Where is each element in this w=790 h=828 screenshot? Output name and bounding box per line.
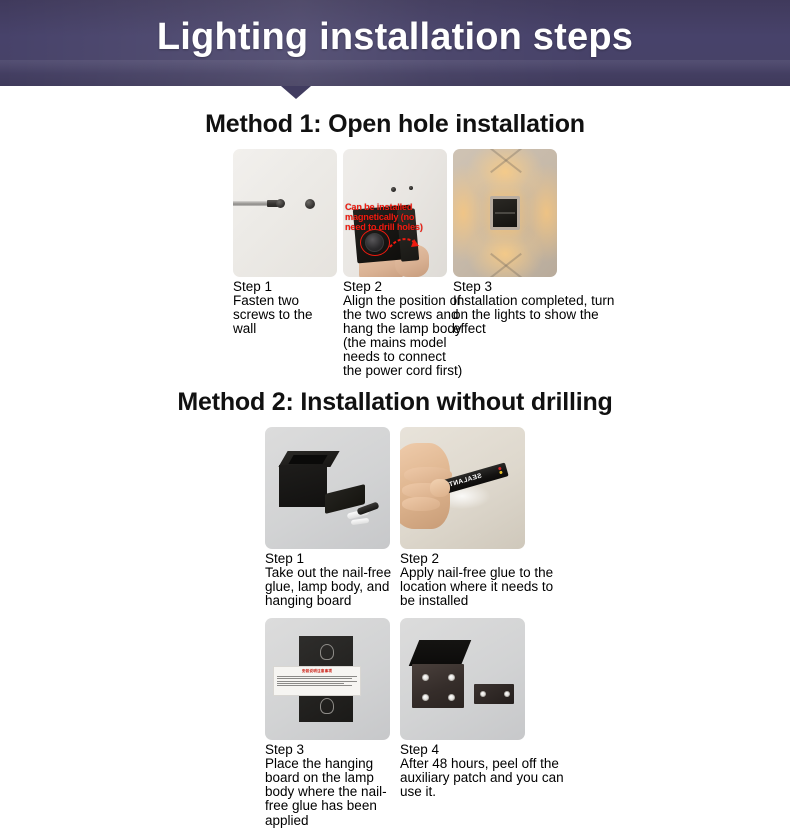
sticker-title-text: 安装说明注意事项 bbox=[274, 669, 360, 674]
step-label: Step 1 bbox=[265, 552, 390, 566]
method-2-steps-row-1: Step 1 Take out the nail-free glue, lamp… bbox=[0, 427, 790, 608]
light-ray-top-right bbox=[490, 149, 557, 173]
glue-tube-white-2 bbox=[351, 518, 370, 525]
tube-dot-yellow bbox=[499, 471, 503, 475]
hanging-lamp-body-on-screws-image: Can be installed magnetically (no need t… bbox=[343, 149, 447, 277]
step-text: Fasten two screws to the wall bbox=[233, 294, 337, 336]
screw-right bbox=[305, 199, 315, 209]
method-1-steps: Step 1 Fasten two screws to the wall Can… bbox=[0, 149, 790, 378]
instruction-sticker: 安装说明注意事项 bbox=[273, 666, 361, 696]
finger-ring bbox=[402, 497, 440, 511]
method-2-step-4: Step 4 After 48 hours, peel off the auxi… bbox=[400, 618, 525, 827]
lamp-cube-body bbox=[279, 465, 327, 507]
method-2-steps-row-2: 安装说明注意事项 Step 3 Place the hanging board … bbox=[0, 618, 790, 827]
keyhole-top bbox=[320, 644, 334, 660]
screw-upper-left bbox=[391, 187, 396, 192]
step-text: Take out the nail-free glue, lamp body, … bbox=[265, 566, 393, 608]
method-1-step-3: Step 3 Installation completed, turn on t… bbox=[453, 149, 557, 378]
lamp-parts-unboxed-image bbox=[265, 427, 390, 549]
screwdriver-shaft bbox=[233, 201, 271, 206]
method-2-step-3: 安装说明注意事项 Step 3 Place the hanging board … bbox=[265, 618, 390, 827]
step-text: Place the hanging board on the lamp body… bbox=[265, 757, 393, 827]
hand-applying-glue-to-wall-image: SEALANT bbox=[400, 427, 525, 549]
method-2-step-4-caption: Step 4 After 48 hours, peel off the auxi… bbox=[400, 743, 525, 799]
step-label: Step 1 bbox=[233, 280, 337, 294]
step-text: Installation completed, turn on the ligh… bbox=[453, 294, 618, 336]
banner-notch-triangle-icon bbox=[281, 86, 311, 99]
hanging-board-with-instruction-sticker-image: 安装说明注意事项 bbox=[265, 618, 390, 740]
sticker-text-line bbox=[277, 678, 352, 679]
method-1-step-1: Step 1 Fasten two screws to the wall bbox=[233, 149, 337, 378]
lamp-body-with-adhesive-pads-image bbox=[400, 618, 525, 740]
step-label: Step 3 bbox=[453, 280, 557, 294]
magnet-highlight-ellipse-icon bbox=[360, 229, 390, 256]
step-text: After 48 hours, peel off the auxiliary p… bbox=[400, 757, 565, 799]
sticker-text-line bbox=[277, 685, 352, 686]
annotation-line-2: magnetically (no bbox=[345, 212, 414, 222]
step-label: Step 4 bbox=[400, 743, 525, 757]
method-2-step-2: SEALANT Step 2 Apply nail-free glue to t… bbox=[400, 427, 525, 608]
cube-inner-cavity bbox=[288, 455, 327, 464]
method-2-heading: Method 2: Installation without drilling bbox=[0, 388, 790, 417]
annotation-line-1: Can be installed bbox=[345, 202, 412, 212]
page-header-banner: Lighting installation steps bbox=[0, 0, 790, 86]
step-label: Step 2 bbox=[400, 552, 525, 566]
method-2-step-3-caption: Step 3 Place the hanging board on the la… bbox=[265, 743, 390, 827]
step-text: Apply nail-free glue to the location whe… bbox=[400, 566, 565, 608]
step-label: Step 2 bbox=[343, 280, 447, 294]
screw-left bbox=[276, 199, 285, 208]
step-label: Step 3 bbox=[265, 743, 390, 757]
keyhole-bottom bbox=[320, 698, 334, 714]
sticker-text-line bbox=[277, 683, 344, 684]
light-ray-bottom-right bbox=[490, 253, 557, 277]
method-2-step-1-caption: Step 1 Take out the nail-free glue, lamp… bbox=[265, 552, 390, 608]
page-title: Lighting installation steps bbox=[0, 16, 790, 59]
method-2-step-1: Step 1 Take out the nail-free glue, lamp… bbox=[265, 427, 390, 608]
wall-with-two-screws-image bbox=[233, 149, 337, 277]
annotation-line-3: need to drill holes) bbox=[345, 222, 423, 232]
sticker-text-line bbox=[277, 676, 357, 677]
step-text: Align the position of the two screws and… bbox=[343, 294, 463, 378]
lamp-body-back bbox=[412, 664, 464, 708]
light-ray-top-left bbox=[453, 149, 522, 173]
magnetic-annotation-text: Can be installed magnetically (no need t… bbox=[345, 203, 447, 233]
method-1-heading: Method 1: Open hole installation bbox=[0, 110, 790, 139]
banner-sheen bbox=[0, 60, 790, 74]
method-1-step-2-caption: Step 2 Align the position of the two scr… bbox=[343, 280, 447, 378]
method-1-step-1-caption: Step 1 Fasten two screws to the wall bbox=[233, 280, 337, 336]
lamp-fixture bbox=[490, 196, 520, 230]
light-ray-bottom-left bbox=[453, 253, 522, 277]
thumb bbox=[430, 479, 450, 497]
screw-upper-right bbox=[409, 186, 413, 190]
red-arrow-icon bbox=[388, 235, 422, 257]
method-1-step-2: Can be installed magnetically (no need t… bbox=[343, 149, 447, 378]
illuminated-wall-lamp-image bbox=[453, 149, 557, 277]
sticker-text-line bbox=[277, 681, 357, 682]
method-2-step-2-caption: Step 2 Apply nail-free glue to the locat… bbox=[400, 552, 525, 608]
method-1-step-3-caption: Step 3 Installation completed, turn on t… bbox=[453, 280, 557, 336]
lamp-top-opening bbox=[409, 640, 472, 666]
